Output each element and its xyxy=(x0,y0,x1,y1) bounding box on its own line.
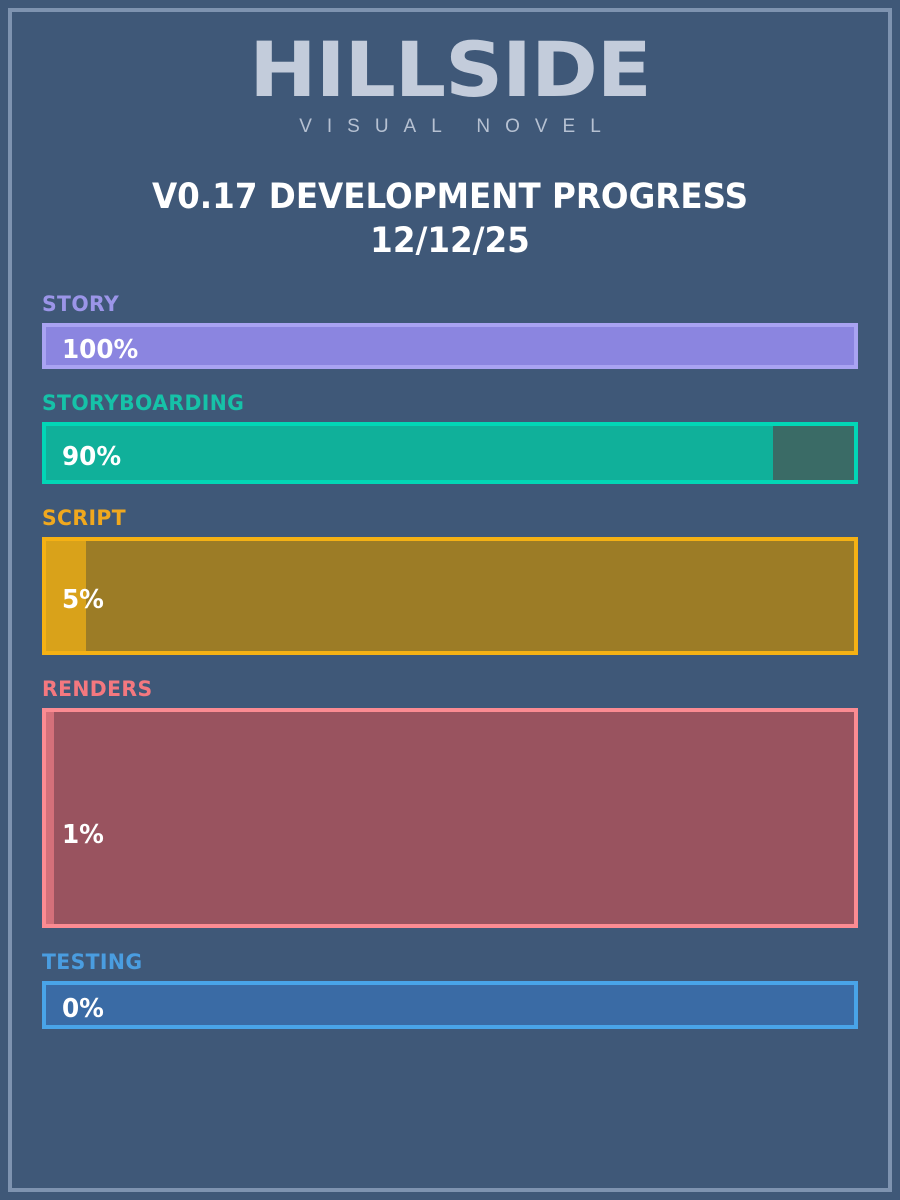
progress-bar-label: STORYBOARDING xyxy=(42,391,834,415)
progress-bar-group: STORY100% xyxy=(42,292,858,369)
progress-bar-track: 1% xyxy=(42,708,858,928)
progress-bar-value: 90% xyxy=(62,444,121,470)
progress-bar-label: RENDERS xyxy=(42,677,834,701)
progress-bar-label: STORY xyxy=(42,292,834,316)
hillside-logo-wordmark: HILLSIDE xyxy=(0,30,900,110)
progress-bar-value: 5% xyxy=(62,587,104,613)
progress-bar-track: 0% xyxy=(42,981,858,1029)
page-title: V0.17 DEVELOPMENT PROGRESS 12/12/25 xyxy=(0,175,900,263)
progress-bar-fill xyxy=(46,327,854,365)
progress-bar-group: TESTING0% xyxy=(42,950,858,1029)
progress-bar-value: 100% xyxy=(62,337,138,363)
title-version-line: V0.17 DEVELOPMENT PROGRESS xyxy=(32,175,869,219)
progress-bar-track: 90% xyxy=(42,422,858,484)
progress-bar-label: SCRIPT xyxy=(42,506,834,530)
progress-bar-track: 5% xyxy=(42,537,858,655)
progress-bar-list: STORY100%STORYBOARDING90%SCRIPT5%RENDERS… xyxy=(42,292,858,1051)
progress-bar-fill xyxy=(46,426,773,480)
progress-bar-value: 1% xyxy=(62,822,104,848)
brand-header: HILLSIDE VISUAL NOVEL xyxy=(0,30,900,138)
progress-bar-group: STORYBOARDING90% xyxy=(42,391,858,484)
progress-bar-fill xyxy=(46,712,54,924)
progress-infographic: HILLSIDE VISUAL NOVEL V0.17 DEVELOPMENT … xyxy=(0,0,900,1200)
progress-bar-value: 0% xyxy=(62,996,104,1022)
hillside-logo-subtitle: VISUAL NOVEL xyxy=(0,116,900,138)
progress-bar-track: 100% xyxy=(42,323,858,369)
progress-bar-group: RENDERS1% xyxy=(42,677,858,928)
progress-bar-label: TESTING xyxy=(42,950,834,974)
title-date-line: 12/12/25 xyxy=(32,219,869,263)
progress-bar-group: SCRIPT5% xyxy=(42,506,858,655)
